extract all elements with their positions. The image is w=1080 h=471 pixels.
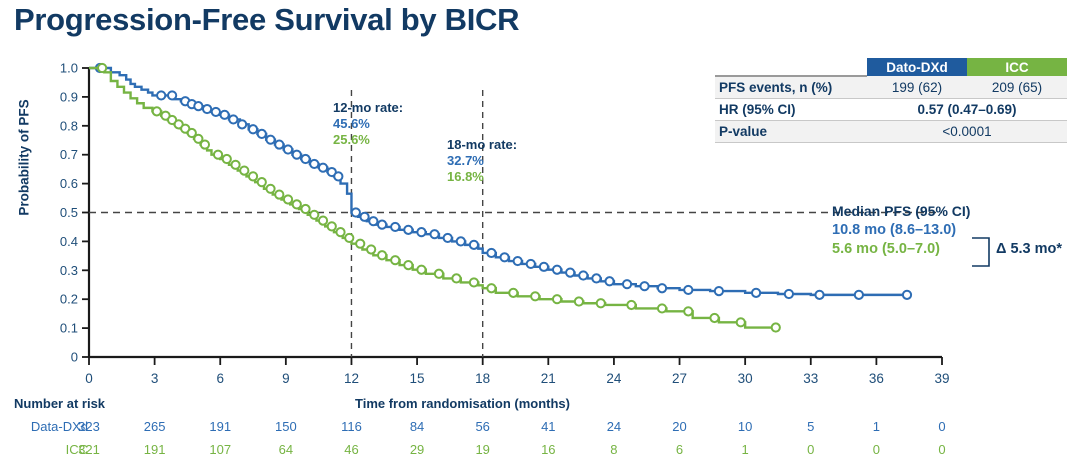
censor-marker <box>360 213 368 221</box>
y-tick-label: 0.4 <box>60 234 78 249</box>
statistics-table: Dato-DXd ICC PFS events, n (%) 199 (62) … <box>715 58 1067 143</box>
censor-marker <box>531 292 539 300</box>
censor-marker <box>553 266 561 274</box>
censor-marker <box>684 286 692 294</box>
x-axis-title: Time from randomisation (months) <box>355 396 570 411</box>
censor-marker <box>903 291 911 299</box>
median-pfs-icc-value: 5.6 mo (5.0–7.0) <box>832 241 970 257</box>
censor-marker <box>275 190 283 198</box>
censor-marker <box>266 185 274 193</box>
annotation-12-mo-dato-value: 45.6% <box>333 116 403 131</box>
censor-marker <box>404 226 412 234</box>
censor-marker <box>391 256 399 264</box>
risk-value: 29 <box>397 442 437 457</box>
censor-marker <box>352 208 360 216</box>
x-tick-label: 30 <box>738 371 753 386</box>
censor-marker <box>194 102 202 110</box>
median-pfs-title: Median PFS (95% CI) <box>832 203 970 219</box>
y-tick-label: 0.9 <box>60 89 78 104</box>
x-tick-label: 39 <box>934 371 949 386</box>
censor-marker <box>430 230 438 238</box>
stats-value-pvalue: <0.0001 <box>867 121 1067 143</box>
censor-marker <box>417 228 425 236</box>
y-tick-label: 0.8 <box>60 118 78 133</box>
censor-marker <box>785 290 793 298</box>
risk-value: 10 <box>725 419 765 434</box>
censor-marker <box>500 253 508 261</box>
risk-value: 323 <box>69 419 109 434</box>
risk-value: 265 <box>135 419 175 434</box>
censor-marker <box>157 91 165 99</box>
censor-marker <box>553 295 561 303</box>
censor-marker <box>328 222 336 230</box>
censor-marker <box>509 289 517 297</box>
x-tick-label: 0 <box>85 371 93 386</box>
censor-marker <box>98 64 106 72</box>
censor-marker <box>435 270 443 278</box>
annotation-12-mo-icc-value: 25.6% <box>333 132 403 147</box>
annotation-12-mo-rate: 12-mo rate: 45.6% 25.6% <box>333 100 403 147</box>
y-tick-label: 0.2 <box>60 292 78 307</box>
annotation-18-mo-icc-value: 16.8% <box>447 169 517 184</box>
censor-marker <box>345 234 353 242</box>
x-tick-label: 36 <box>869 371 884 386</box>
censor-marker <box>658 304 666 312</box>
censor-marker <box>627 301 635 309</box>
censor-marker <box>715 287 723 295</box>
censor-marker <box>319 216 327 224</box>
risk-value: 56 <box>463 419 503 434</box>
censor-marker <box>168 91 176 99</box>
censor-marker <box>575 297 583 305</box>
censor-marker <box>249 125 257 133</box>
censor-marker <box>378 251 386 259</box>
annotation-18-mo-rate: 18-mo rate: 32.7% 16.8% <box>447 137 517 184</box>
x-tick-label: 21 <box>541 371 556 386</box>
censor-marker <box>452 274 460 282</box>
y-tick-label: 0.7 <box>60 147 78 162</box>
stats-value-hr: 0.57 (0.47–0.69) <box>867 99 1067 121</box>
censor-marker <box>223 155 231 163</box>
y-tick-label: 0.3 <box>60 263 78 278</box>
slide-root: Progression-Free Survival by BICR 1.00.9… <box>0 0 1080 471</box>
x-tick-label: 3 <box>151 371 159 386</box>
stats-value-pfs-events-dato: 199 (62) <box>867 76 967 99</box>
delta-value: Δ 5.3 mo* <box>996 241 1062 257</box>
x-tick-label: 15 <box>410 371 425 386</box>
censor-marker <box>240 166 248 174</box>
censor-marker <box>592 274 600 282</box>
censor-marker <box>258 178 266 186</box>
censor-marker <box>378 221 386 229</box>
risk-value: 16 <box>528 442 568 457</box>
censor-marker <box>605 277 613 285</box>
censor-marker <box>623 280 631 288</box>
risk-value: 41 <box>528 419 568 434</box>
censor-marker <box>301 155 309 163</box>
censor-marker <box>293 200 301 208</box>
stats-row-label-pvalue: P-value <box>715 121 867 143</box>
table-row: P-value <0.0001 <box>715 121 1067 143</box>
risk-value: 64 <box>266 442 306 457</box>
censor-marker <box>487 284 495 292</box>
censor-marker <box>275 140 283 148</box>
censor-marker <box>221 111 229 119</box>
y-tick-label: 1.0 <box>60 61 78 76</box>
censor-marker <box>514 257 522 265</box>
risk-value: 8 <box>594 442 634 457</box>
censor-marker <box>231 161 239 169</box>
risk-value: 84 <box>397 419 437 434</box>
y-tick-label: 0.6 <box>60 176 78 191</box>
x-tick-label: 24 <box>606 371 622 386</box>
censor-marker <box>238 120 246 128</box>
censor-marker <box>336 228 344 236</box>
stats-header-blank <box>715 58 867 76</box>
y-tick-label: 0.1 <box>60 321 78 336</box>
censor-marker <box>391 223 399 231</box>
stats-table-header-row: Dato-DXd ICC <box>715 58 1067 76</box>
censor-marker <box>527 260 535 268</box>
stats-header-icc: ICC <box>967 58 1067 76</box>
stats-header-dato: Dato-DXd <box>867 58 967 76</box>
censor-marker <box>369 217 377 225</box>
censor-marker <box>457 237 465 245</box>
risk-value: 107 <box>200 442 240 457</box>
censor-marker <box>566 269 574 277</box>
risk-value: 6 <box>660 442 700 457</box>
risk-value: 24 <box>594 419 634 434</box>
censor-marker <box>249 172 257 180</box>
risk-value: 116 <box>331 419 371 434</box>
censor-marker <box>293 151 301 159</box>
risk-value: 1 <box>856 419 896 434</box>
censor-marker <box>855 291 863 299</box>
x-tick-label: 12 <box>344 371 359 386</box>
censor-marker <box>229 115 237 123</box>
censor-marker <box>579 271 587 279</box>
annotation-18-mo-dato-value: 32.7% <box>447 153 517 168</box>
annotation-12-mo-heading: 12-mo rate: <box>333 100 403 115</box>
censor-marker <box>310 211 318 219</box>
censor-marker <box>284 195 292 203</box>
censor-marker <box>684 307 692 315</box>
x-tick-label: 18 <box>475 371 490 386</box>
median-pfs-dato-value: 10.8 mo (8.6–13.0) <box>832 222 970 238</box>
y-axis-title: Probability of PFS <box>17 88 32 228</box>
risk-value: 5 <box>791 419 831 434</box>
censor-marker <box>284 145 292 153</box>
risk-value: 19 <box>463 442 503 457</box>
x-tick-label: 6 <box>216 371 224 386</box>
censor-marker <box>212 108 220 116</box>
x-tick-label: 27 <box>672 371 687 386</box>
censor-marker <box>640 282 648 290</box>
censor-marker <box>301 205 309 213</box>
censor-marker <box>404 261 412 269</box>
delta-bracket: Δ 5.3 mo* <box>971 229 1080 275</box>
median-pfs-block: Median PFS (95% CI) 10.8 mo (8.6–13.0) 5… <box>832 203 970 257</box>
number-at-risk-heading: Number at risk <box>14 396 105 411</box>
censor-marker <box>319 164 327 172</box>
censor-marker <box>258 130 266 138</box>
risk-value: 191 <box>200 419 240 434</box>
y-tick-label: 0 <box>71 350 78 365</box>
censor-marker <box>710 314 718 322</box>
censor-marker <box>203 105 211 113</box>
risk-value: 150 <box>266 419 306 434</box>
censor-marker <box>658 284 666 292</box>
stats-value-pfs-events-icc: 209 (65) <box>967 76 1067 99</box>
censor-marker <box>487 249 495 257</box>
risk-value: 46 <box>331 442 371 457</box>
table-row: PFS events, n (%) 199 (62) 209 (65) <box>715 76 1067 99</box>
censor-marker <box>201 140 209 148</box>
stats-row-label-hr: HR (95% CI) <box>715 99 867 121</box>
x-tick-label: 33 <box>803 371 818 386</box>
risk-value: 0 <box>922 442 962 457</box>
censor-marker <box>356 240 364 248</box>
censor-marker <box>417 266 425 274</box>
risk-value: 20 <box>660 419 700 434</box>
censor-marker <box>540 263 548 271</box>
risk-value: 1 <box>725 442 765 457</box>
censor-marker <box>597 299 605 307</box>
censor-marker <box>214 151 222 159</box>
risk-value: 0 <box>922 419 962 434</box>
censor-marker <box>367 245 375 253</box>
censor-marker <box>737 318 745 326</box>
risk-value: 0 <box>791 442 831 457</box>
risk-value: 321 <box>69 442 109 457</box>
censor-marker <box>470 278 478 286</box>
censor-marker <box>444 234 452 242</box>
censor-marker <box>752 289 760 297</box>
censor-marker <box>815 291 823 299</box>
censor-marker <box>266 136 274 144</box>
table-row: HR (95% CI) 0.57 (0.47–0.69) <box>715 99 1067 121</box>
censor-marker <box>153 107 161 115</box>
censor-marker <box>470 241 478 249</box>
risk-value: 0 <box>856 442 896 457</box>
stats-row-label-pfs-events: PFS events, n (%) <box>715 76 867 99</box>
censor-marker <box>334 172 342 180</box>
censor-marker <box>772 323 780 331</box>
x-tick-label: 9 <box>282 371 290 386</box>
y-tick-label: 0.5 <box>60 205 78 220</box>
annotation-18-mo-heading: 18-mo rate: <box>447 137 517 152</box>
risk-value: 191 <box>135 442 175 457</box>
censor-marker <box>310 160 318 168</box>
